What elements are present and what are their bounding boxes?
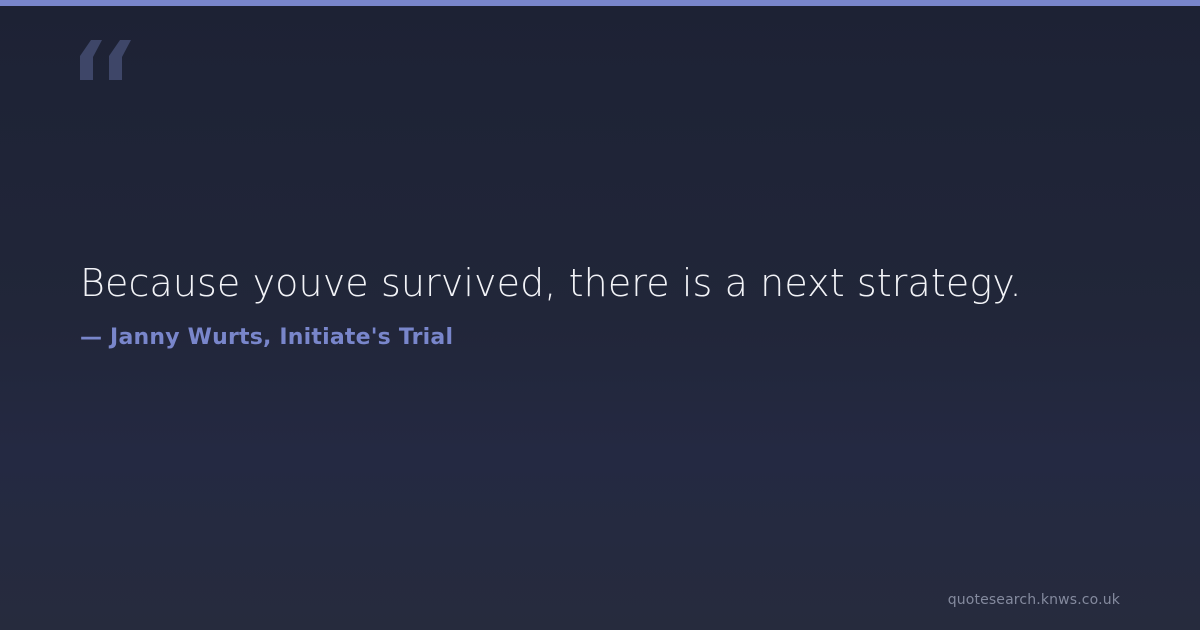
quote-text: Because youve survived, there is a next … <box>80 258 1120 308</box>
quote-card: Because youve survived, there is a next … <box>0 0 1200 630</box>
double-quote-icon <box>80 40 132 80</box>
top-accent-bar <box>0 0 1200 6</box>
site-watermark: quotesearch.knws.co.uk <box>948 591 1120 609</box>
quote-attribution: — Janny Wurts, Initiate's Trial <box>80 322 453 354</box>
